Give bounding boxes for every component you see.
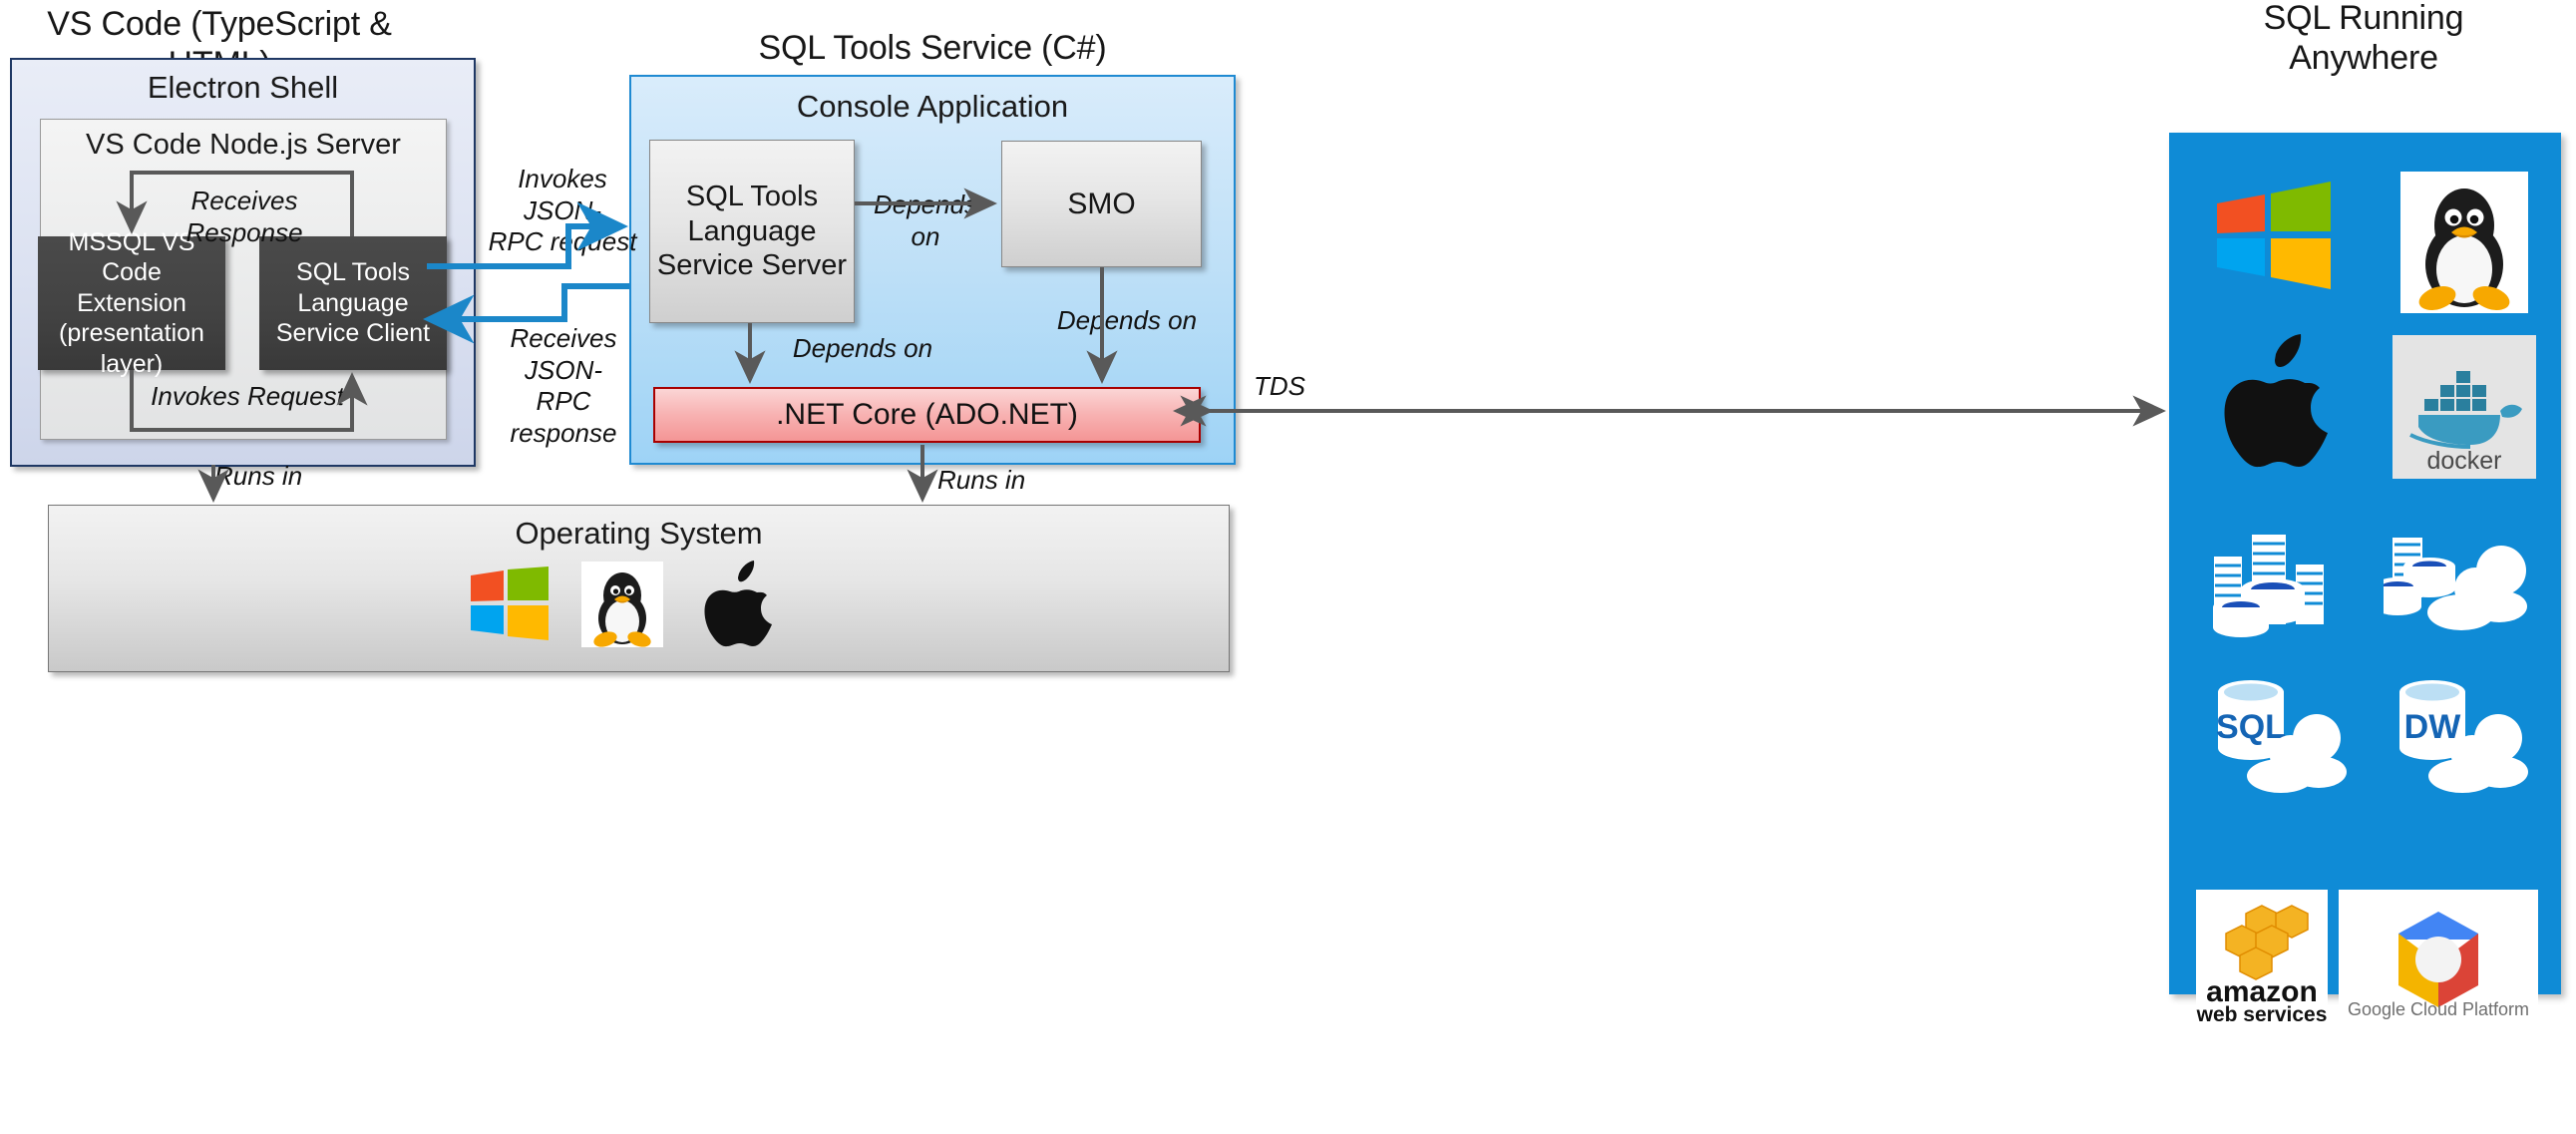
apple-logo-icon bbox=[2210, 331, 2330, 473]
azure-sql-data-warehouse-icon: DW bbox=[2389, 676, 2548, 796]
sql-server-vm-cloud-icon bbox=[2384, 531, 2543, 650]
svg-text:SQL: SQL bbox=[2216, 708, 2286, 746]
edge-label-runs-in-left: Runs in bbox=[214, 461, 344, 493]
svg-text:DW: DW bbox=[2404, 708, 2462, 746]
edge-label-runs-in-right: Runs in bbox=[937, 465, 1067, 497]
vscode-nodejs-server-title: VS Code Node.js Server bbox=[41, 129, 446, 162]
caption-sql-tools-service: SQL Tools Service (C#) bbox=[698, 28, 1167, 68]
box-sql-tools-language-service-server[interactable]: SQL Tools Language Service Server bbox=[649, 140, 855, 323]
box-sql-tools-language-service-client[interactable]: SQL Tools Language Service Client bbox=[259, 236, 447, 370]
svg-text:web services: web services bbox=[2196, 1003, 2327, 1026]
docker-logo-icon: docker bbox=[2392, 335, 2536, 479]
apple-logo-icon bbox=[695, 559, 773, 650]
linux-tux-icon bbox=[2400, 172, 2528, 313]
svg-text:Google Cloud Platform: Google Cloud Platform bbox=[2348, 999, 2529, 1019]
edge-label-invokes-jsonrpc-request: Invokes JSON- RPC request bbox=[483, 164, 642, 258]
edge-label-depends-on-netcore-from-smo: Depends on bbox=[1027, 305, 1227, 337]
google-cloud-platform-logo-icon: Google Cloud Platform bbox=[2339, 890, 2538, 1029]
console-application-title: Console Application bbox=[631, 89, 1234, 125]
edge-label-receives-response: Receives Response bbox=[140, 186, 349, 248]
architecture-diagram: VS Code (TypeScript & HTML) SQL Tools Se… bbox=[0, 0, 2576, 1134]
sql-server-on-prem-icon bbox=[2207, 526, 2347, 650]
electron-shell-title: Electron Shell bbox=[12, 70, 474, 106]
amazon-web-services-logo-icon: amazon web services bbox=[2196, 890, 2328, 1029]
caption-sql-running-anywhere: SQL Running Anywhere bbox=[2194, 0, 2533, 78]
windows-logo-icon bbox=[2217, 182, 2331, 289]
edge-label-receives-jsonrpc-response: Receives JSON- RPC response bbox=[481, 323, 646, 450]
box-net-core-ado-net[interactable]: .NET Core (ADO.NET) bbox=[653, 387, 1201, 443]
edge-label-depends-on-netcore-from-server: Depends on bbox=[768, 333, 957, 365]
box-mssql-vscode-extension[interactable]: MSSQL VS Code Extension (presentation la… bbox=[38, 236, 225, 370]
edge-label-invokes-request: Invokes Request bbox=[143, 381, 352, 413]
box-smo[interactable]: SMO bbox=[1001, 141, 1202, 267]
edge-label-depends-on-smo: Depends on bbox=[866, 189, 985, 252]
edge-label-tds: TDS bbox=[1245, 371, 1314, 403]
svg-text:docker: docker bbox=[2426, 447, 2501, 475]
azure-sql-database-icon: SQL bbox=[2207, 676, 2367, 796]
windows-logo-icon bbox=[471, 567, 549, 640]
linux-tux-icon bbox=[581, 562, 663, 647]
operating-system-title: Operating System bbox=[49, 516, 1229, 552]
